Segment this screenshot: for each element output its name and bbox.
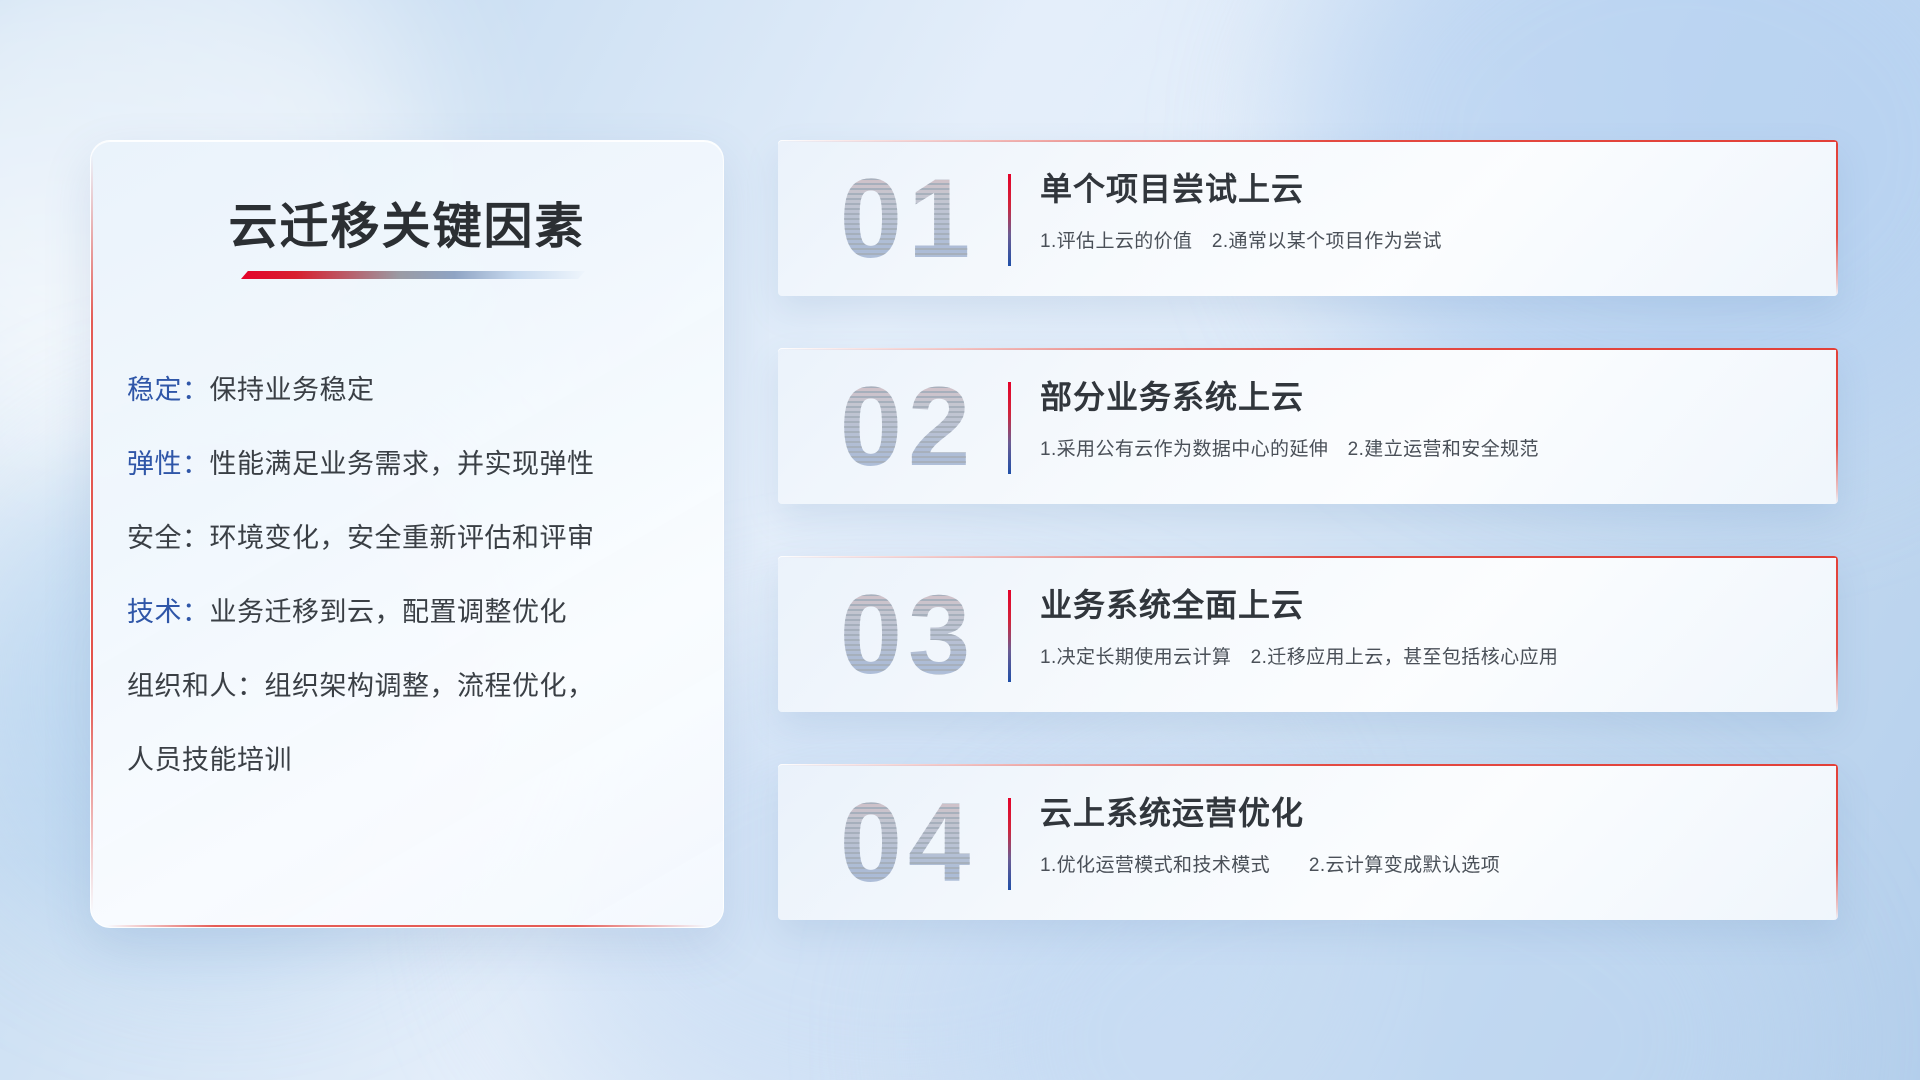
factor-label: 组织和人： [127, 671, 265, 701]
key-factors-panel: 云迁移关键因素 稳定：保持业务稳定弹性：性能满足业务需求，并实现弹性安全：环境变… [90, 140, 724, 928]
factor-text: 性能满足业务需求，并实现弹性 [210, 449, 595, 479]
step-description: 1.采用公有云作为数据中心的延伸 2.建立运营和安全规范 [1040, 434, 1804, 461]
factor-row: 人员技能培训 [127, 723, 697, 797]
step-body: 单个项目尝试上云1.评估上云的价值 2.通常以某个项目作为尝试 [1040, 164, 1804, 253]
factor-text: 人员技能培训 [127, 745, 292, 775]
step-card[interactable]: 04云上系统运营优化1.优化运营模式和技术模式 2.云计算变成默认选项 [778, 764, 1838, 920]
step-divider-bar [1008, 382, 1011, 474]
step-description: 1.评估上云的价值 2.通常以某个项目作为尝试 [1040, 226, 1804, 253]
panel-title: 云迁移关键因素 [91, 187, 723, 258]
step-number: 03 [808, 564, 1008, 706]
step-title: 单个项目尝试上云 [1040, 164, 1804, 210]
factor-row: 弹性：性能满足业务需求，并实现弹性 [127, 427, 697, 501]
factor-label: 弹性： [127, 449, 210, 479]
factor-row: 稳定：保持业务稳定 [127, 353, 697, 427]
step-divider-bar [1008, 798, 1011, 890]
step-number: 02 [808, 356, 1008, 498]
step-divider-bar [1008, 590, 1011, 682]
factor-text: 业务迁移到云，配置调整优化 [210, 597, 568, 627]
step-card[interactable]: 02部分业务系统上云1.采用公有云作为数据中心的延伸 2.建立运营和安全规范 [778, 348, 1838, 504]
step-title: 云上系统运营优化 [1040, 788, 1804, 834]
step-body: 部分业务系统上云1.采用公有云作为数据中心的延伸 2.建立运营和安全规范 [1040, 372, 1804, 461]
step-divider-bar [1008, 174, 1011, 266]
step-body: 业务系统全面上云1.决定长期使用云计算 2.迁移应用上云，甚至包括核心应用 [1040, 580, 1804, 669]
step-number: 01 [808, 148, 1008, 290]
factor-text: 组织架构调整，流程优化， [265, 671, 595, 701]
step-number: 04 [808, 772, 1008, 914]
slide-canvas: 云迁移关键因素 稳定：保持业务稳定弹性：性能满足业务需求，并实现弹性安全：环境变… [0, 0, 1920, 1080]
factor-row: 安全：环境变化，安全重新评估和评审 [127, 501, 697, 575]
factor-list: 稳定：保持业务稳定弹性：性能满足业务需求，并实现弹性安全：环境变化，安全重新评估… [127, 353, 697, 797]
factor-label: 安全： [127, 523, 210, 553]
step-card[interactable]: 01单个项目尝试上云1.评估上云的价值 2.通常以某个项目作为尝试 [778, 140, 1838, 296]
factor-text: 环境变化，安全重新评估和评审 [210, 523, 595, 553]
step-title: 业务系统全面上云 [1040, 580, 1804, 626]
factor-label: 稳定： [127, 375, 210, 405]
step-title: 部分业务系统上云 [1040, 372, 1804, 418]
title-underline-rule [241, 271, 585, 279]
step-body: 云上系统运营优化1.优化运营模式和技术模式 2.云计算变成默认选项 [1040, 788, 1804, 877]
step-card-list: 01单个项目尝试上云1.评估上云的价值 2.通常以某个项目作为尝试02部分业务系… [778, 140, 1838, 972]
step-description: 1.决定长期使用云计算 2.迁移应用上云，甚至包括核心应用 [1040, 642, 1804, 669]
step-description: 1.优化运营模式和技术模式 2.云计算变成默认选项 [1040, 850, 1804, 877]
step-card[interactable]: 03业务系统全面上云1.决定长期使用云计算 2.迁移应用上云，甚至包括核心应用 [778, 556, 1838, 712]
factor-row: 组织和人：组织架构调整，流程优化， [127, 649, 697, 723]
factor-text: 保持业务稳定 [210, 375, 375, 405]
factor-label: 技术： [127, 597, 210, 627]
factor-row: 技术：业务迁移到云，配置调整优化 [127, 575, 697, 649]
